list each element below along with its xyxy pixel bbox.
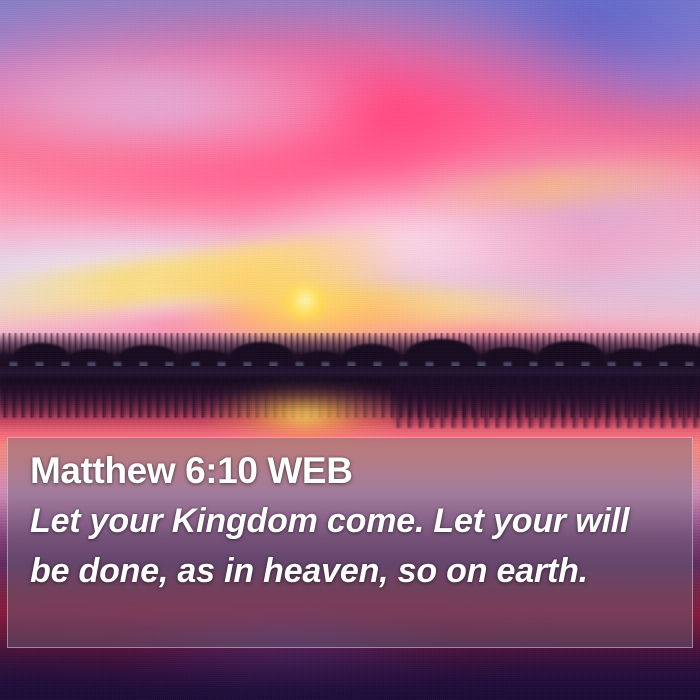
- verse-text-overlay-panel: Matthew 6:10 WEB Let your Kingdom come. …: [7, 437, 693, 648]
- verse-image-card: Matthew 6:10 WEB Let your Kingdom come. …: [0, 0, 700, 700]
- verse-reference: Matthew 6:10 WEB: [30, 448, 674, 494]
- verse-text: Let your Kingdom come. Let your will be …: [30, 496, 674, 596]
- pale-cloud-left: [0, 42, 364, 168]
- sun-icon: [284, 285, 326, 319]
